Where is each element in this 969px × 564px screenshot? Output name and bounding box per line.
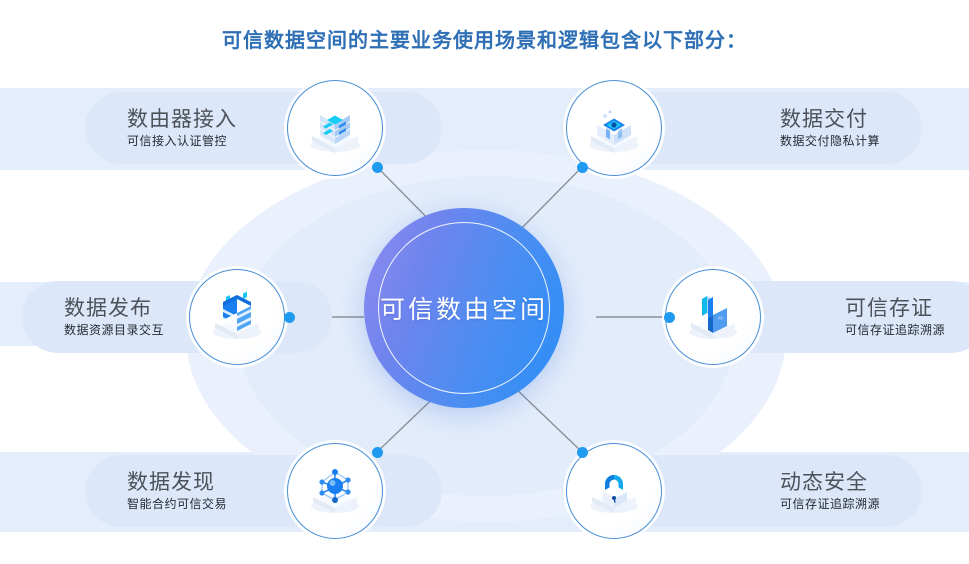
connector-dot-trusted-evidence (664, 312, 675, 323)
lock-icon (583, 460, 645, 522)
card-title-dynamic-security: 动态安全 (780, 470, 868, 494)
diagram-canvas: 可信数据空间的主要业务使用场景和逻辑包含以下部分： 数由器接入 可信接入认证管控 (0, 0, 969, 564)
node-data-publish[interactable] (189, 269, 285, 365)
card-subtitle-data-delivery: 数据交付隐私计算 (780, 135, 880, 149)
card-title-data-discovery: 数据发现 (127, 470, 215, 494)
node-trusted-evidence[interactable] (665, 269, 761, 365)
card-title-data-delivery: 数据交付 (780, 107, 868, 131)
catalog-icon (206, 286, 268, 348)
card-data-discovery[interactable]: 数据发现 智能合约可信交易 (85, 455, 442, 527)
connector-dot-data-discovery (372, 447, 383, 458)
card-subtitle-dynamic-security: 可信存证追踪溯源 (780, 498, 880, 512)
card-subtitle-router-access: 可信接入认证管控 (127, 135, 227, 149)
connector-dot-data-delivery (577, 162, 588, 173)
card-title-trusted-evidence: 可信存证 (845, 296, 933, 320)
card-title-router-access: 数由器接入 (127, 107, 237, 131)
server-rack-icon (304, 97, 366, 159)
card-subtitle-trusted-evidence: 可信存证追踪溯源 (845, 324, 945, 338)
node-data-discovery[interactable] (287, 443, 383, 539)
center-hub[interactable]: 可信数由空间 (364, 208, 564, 408)
network-node-icon (304, 460, 366, 522)
book-icon (682, 286, 744, 348)
card-subtitle-data-discovery: 智能合约可信交易 (127, 498, 227, 512)
center-label: 可信数由空间 (364, 208, 564, 408)
connector-dot-router-access (372, 162, 383, 173)
card-title-data-publish: 数据发布 (64, 296, 152, 320)
cube-icon (583, 97, 645, 159)
card-subtitle-data-publish: 数据资源目录交互 (64, 324, 164, 338)
node-router-access[interactable] (287, 80, 383, 176)
card-router-access[interactable]: 数由器接入 可信接入认证管控 (85, 92, 442, 164)
connector-dot-data-publish (284, 312, 295, 323)
connector-dot-dynamic-security (577, 447, 588, 458)
